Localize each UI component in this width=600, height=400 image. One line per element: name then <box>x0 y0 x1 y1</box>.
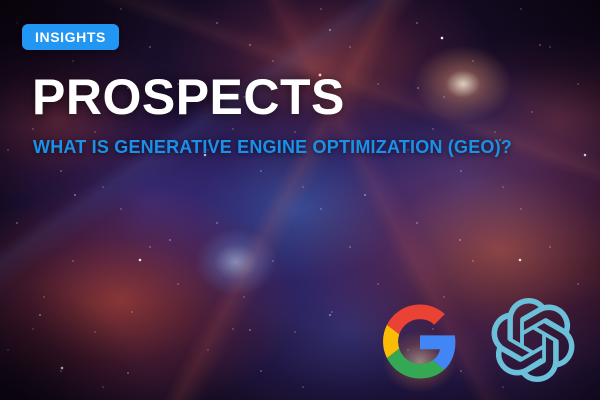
insights-banner: INSIGHTS PROSPECTS WHAT IS GENERATIVE EN… <box>0 0 600 400</box>
google-logo <box>383 304 457 379</box>
banner-content: INSIGHTS PROSPECTS WHAT IS GENERATIVE EN… <box>0 0 600 400</box>
banner-title: PROSPECTS <box>32 72 345 122</box>
openai-logo <box>491 298 575 382</box>
insights-badge-label: INSIGHTS <box>35 29 106 45</box>
insights-badge[interactable]: INSIGHTS <box>22 24 119 50</box>
banner-subtitle: WHAT IS GENERATIVE ENGINE OPTIMIZATION (… <box>33 138 512 156</box>
